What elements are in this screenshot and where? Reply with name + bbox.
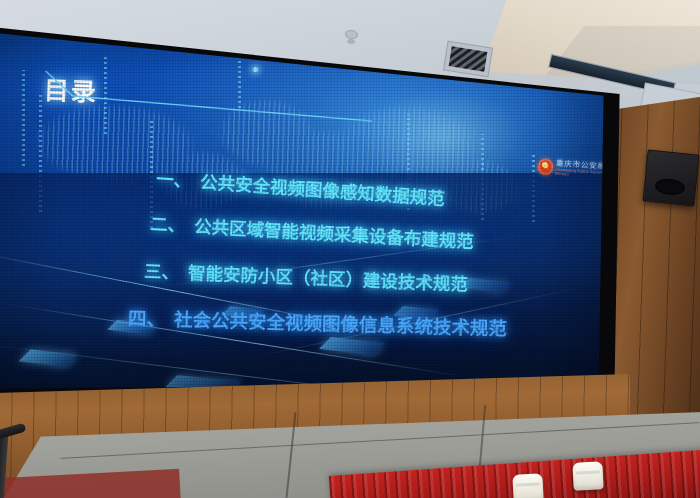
police-badge-icon (538, 158, 554, 175)
list-item-number: 一、 (156, 170, 192, 192)
list-item-label: 公共安全视频图像感知数据规范 (199, 173, 445, 210)
list-item[interactable]: 四、社会公共安全视频图像信息系统技术规范 (128, 305, 508, 342)
conference-room-photo: 目录 一、公共安全视频图像感知数据规范 二、公共区域智能视频采集设备布建规范 三… (0, 0, 700, 498)
wall-speaker-icon (642, 149, 699, 206)
list-item[interactable]: 二、公共区域智能视频采集设备布建规范 (150, 211, 475, 254)
list-item-label: 智能安防小区（社区）建设技术规范 (188, 264, 469, 296)
list-item-label: 社会公共安全视频图像信息系统技术规范 (174, 310, 507, 340)
list-item[interactable]: 一、公共安全视频图像感知数据规范 (155, 166, 445, 211)
water-bottle-icon (512, 473, 543, 498)
list-item-number: 二、 (150, 215, 186, 237)
water-bottle-icon (572, 461, 603, 491)
list-item[interactable]: 三、智能安防小区（社区）建设技术规范 (144, 258, 469, 297)
list-item-number: 四、 (128, 309, 166, 331)
list-item-label: 公共区域智能视频采集设备布建规范 (194, 217, 475, 253)
list-item-number: 三、 (144, 262, 180, 283)
